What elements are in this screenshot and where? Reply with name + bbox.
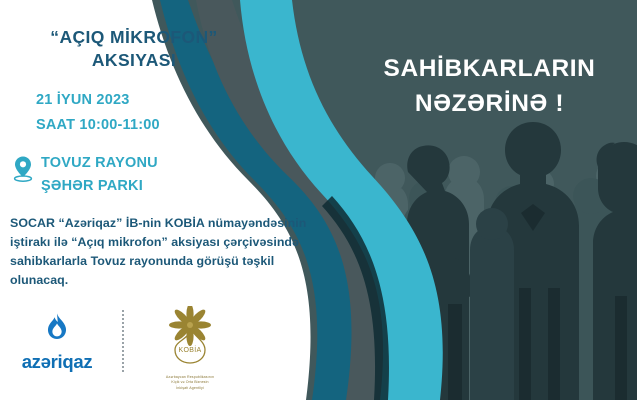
logo-divider [122,310,124,372]
kobia-flower-icon: KOBİA [159,306,221,368]
event-datetime: 21 İYUN 2023 SAAT 10:00-11:00 [36,88,160,138]
kobia-name: KOBİA [179,345,202,354]
event-time: SAAT 10:00-11:00 [36,113,160,138]
azeriqaz-logo: azəriqaz [14,306,100,373]
title-line-2: AKSIYASI [0,49,268,72]
flame-icon [42,312,72,344]
event-date: 21 İYUN 2023 [36,88,160,113]
location-pin-icon [12,155,34,183]
location-text: TOVUZ RAYONU ŞƏHƏR PARKI [41,152,158,199]
kobia-logo: KOBİA Azərbaycan Respublikasının Kiçik v… [146,306,234,391]
azeriqaz-wordmark: azəriqaz [14,351,100,373]
headline-line-1: SAHİBKARLARIN [352,52,627,87]
partner-logos: azəriqaz KOBİA Azərb [14,306,234,391]
event-location: TOVUZ RAYONU ŞƏHƏR PARKI [12,152,158,199]
headline-line-2: NƏZƏRİNƏ ! [352,87,627,122]
kobia-caption: Azərbaycan Respublikasının Kiçik və Orta… [146,375,234,391]
title-line-1: “AÇIQ MİKROFON” [0,26,268,49]
event-poster: “AÇIQ MİKROFON” AKSIYASI 21 İYUN 2023 SA… [0,0,637,400]
location-line-1: TOVUZ RAYONU [41,152,158,175]
kobia-caption-line-3: İnkişafı Agentliyi [146,386,234,391]
poster-title: “AÇIQ MİKROFON” AKSIYASI [0,26,268,73]
poster-headline: SAHİBKARLARIN NƏZƏRİNƏ ! [352,52,627,122]
poster-body-text: SOCAR “Azəriqaz” İB-nin KOBİA nümayəndəs… [10,214,310,289]
location-line-2: ŞƏHƏR PARKI [41,175,158,198]
